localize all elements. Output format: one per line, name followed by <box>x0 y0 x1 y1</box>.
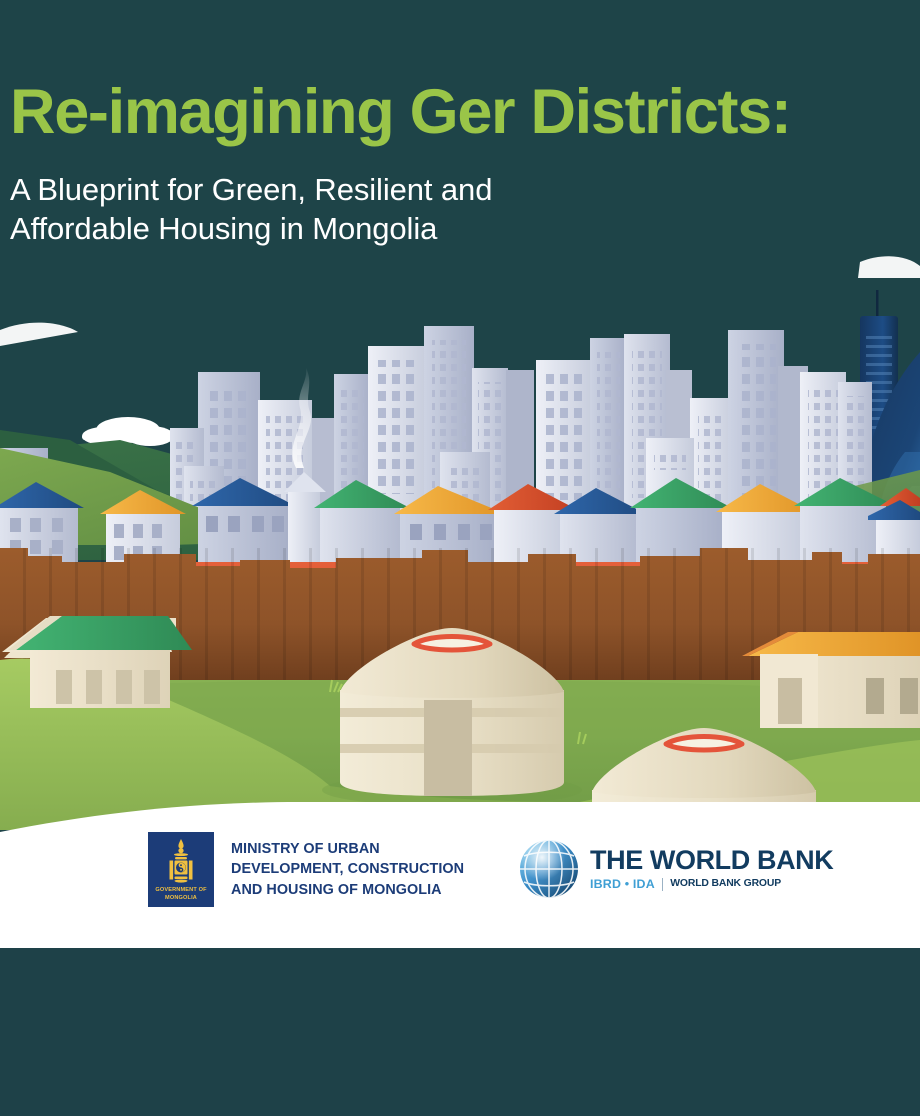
title-block: Re-imagining Ger Districts: A Blueprint … <box>10 80 920 248</box>
ministry-line-2: DEVELOPMENT, CONSTRUCTION <box>231 859 464 879</box>
world-bank-affiliates: IBRD • IDA <box>590 878 655 890</box>
logo-row: GOVERNMENT OF MONGOLIA MINISTRY OF URBAN… <box>0 832 920 922</box>
world-bank-group-label: WORLD BANK GROUP <box>670 879 781 889</box>
footer-band <box>0 948 920 1116</box>
page-subtitle: A Blueprint for Green, Resilient and Aff… <box>10 170 920 249</box>
crest-caption: GOVERNMENT OF MONGOLIA <box>148 886 214 902</box>
subtitle-line-1: A Blueprint for Green, Resilient and <box>10 170 920 209</box>
house-amber-roof <box>742 632 920 728</box>
mongolia-government-logo: GOVERNMENT OF MONGOLIA MINISTRY OF URBAN… <box>148 832 464 907</box>
divider <box>662 878 663 891</box>
subtitle-line-2: Affordable Housing in Mongolia <box>10 209 920 248</box>
crest-line-2: MONGOLIA <box>165 895 197 901</box>
world-bank-title: THE WORLD BANK <box>590 847 833 874</box>
soyombo-emblem-icon: GOVERNMENT OF MONGOLIA <box>148 832 214 907</box>
world-bank-subtitle: IBRD • IDA WORLD BANK GROUP <box>590 878 833 891</box>
ministry-line-1: MINISTRY OF URBAN <box>231 839 464 859</box>
world-bank-wordmark: THE WORLD BANK IBRD • IDA WORLD BANK GRO… <box>590 847 833 891</box>
ministry-name: MINISTRY OF URBAN DEVELOPMENT, CONSTRUCT… <box>231 839 464 900</box>
ministry-line-3: AND HOUSING OF MONGOLIA <box>231 880 464 900</box>
page-title: Re-imagining Ger Districts: <box>10 80 920 146</box>
report-cover: Re-imagining Ger Districts: A Blueprint … <box>0 0 920 1116</box>
crest-line-1: GOVERNMENT OF <box>155 887 206 893</box>
tower-antenna <box>876 290 879 316</box>
world-bank-logo: THE WORLD BANK IBRD • IDA WORLD BANK GRO… <box>518 838 833 900</box>
world-bank-globe-icon <box>518 838 580 900</box>
